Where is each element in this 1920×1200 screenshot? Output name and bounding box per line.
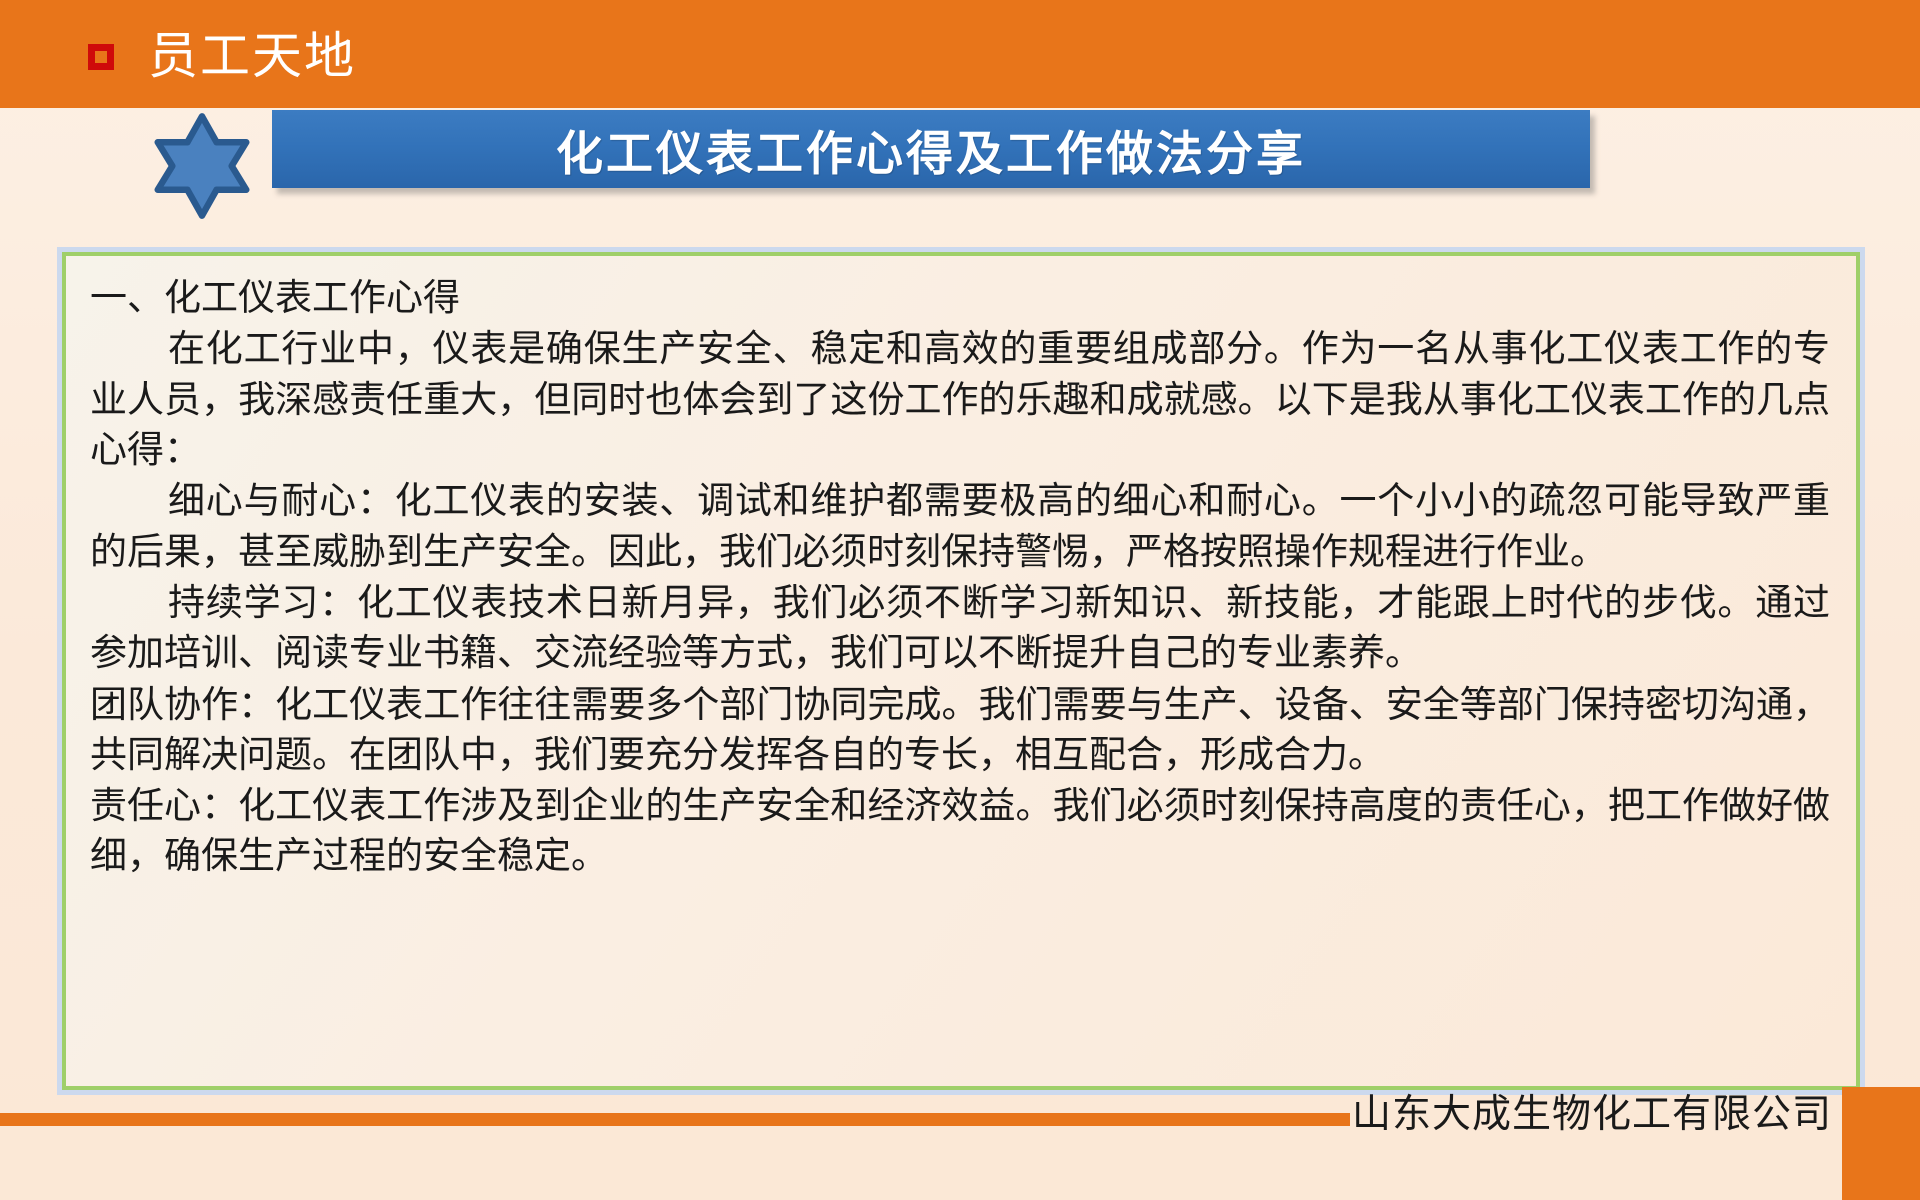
title-banner-text: 化工仪表工作心得及工作做法分享 (556, 115, 1306, 184)
slide: 员工天地 化工仪表工作心得及工作做法分享 一、化工仪表工作心得 在化工行业中，仪… (0, 0, 1920, 1200)
footer-accent-line (0, 1113, 1350, 1126)
paragraph-care-patience: 细心与耐心：化工仪表的安装、调试和维护都需要极高的细心和耐心。一个小小的疏忽可能… (90, 477, 1830, 578)
paragraph-responsibility: 责任心：化工仪表工作涉及到企业的生产安全和经济效益。我们必须时刻保持高度的责任心… (90, 782, 1830, 883)
paragraph-intro: 在化工行业中，仪表是确保生产安全、稳定和高效的重要组成部分。作为一名从事化工仪表… (90, 325, 1830, 476)
body-text: 一、化工仪表工作心得 在化工行业中，仪表是确保生产安全、稳定和高效的重要组成部分… (90, 274, 1830, 883)
six-pointed-star-icon (148, 112, 256, 220)
paragraph-section-heading: 一、化工仪表工作心得 (90, 274, 1830, 324)
content-box: 一、化工仪表工作心得 在化工行业中，仪表是确保生产安全、稳定和高效的重要组成部分… (62, 252, 1860, 1090)
footer-accent-block (1842, 1087, 1920, 1200)
page-title: 员工天地 (148, 31, 356, 81)
paragraph-continuous-learning: 持续学习：化工仪表技术日新月异，我们必须不断学习新知识、新技能，才能跟上时代的步… (90, 579, 1830, 680)
red-square-bullet-icon (88, 44, 114, 70)
header: 员工天地 (0, 0, 1920, 108)
paragraph-teamwork: 团队协作：化工仪表工作往往需要多个部门协同完成。我们需要与生产、设备、安全等部门… (90, 681, 1830, 782)
footer-company-name: 山东大成生物化工有限公司 (1352, 1083, 1832, 1139)
title-banner: 化工仪表工作心得及工作做法分享 (272, 110, 1590, 188)
